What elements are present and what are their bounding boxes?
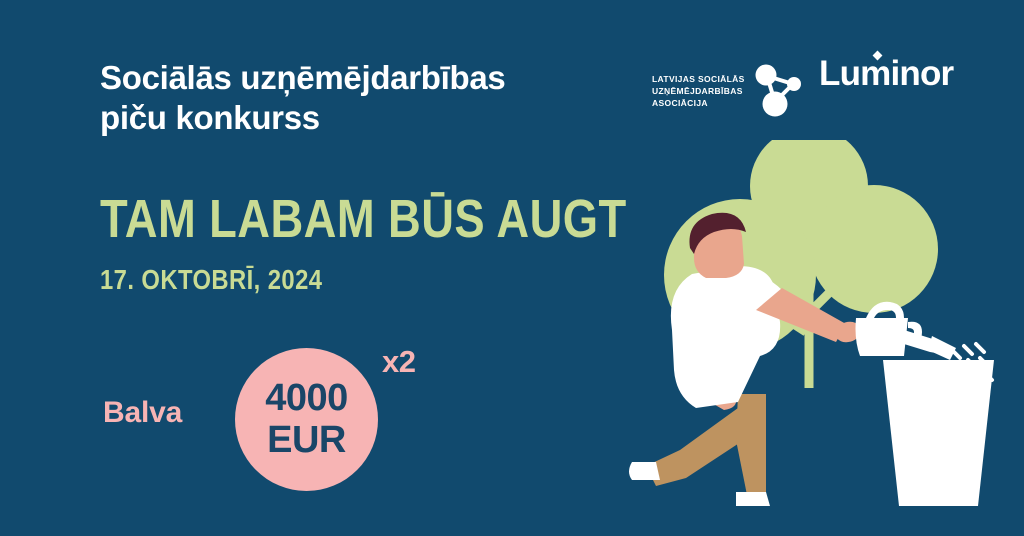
lsua-logo-text: LATVIJAS SOCIĀLĀS UZŅĒMĒJDARBĪBAS ASOCIĀ…	[652, 73, 745, 109]
event-date: 17. OKTOBRĪ, 2024	[100, 266, 322, 294]
prize-label: Balva	[103, 398, 182, 428]
watering-can	[856, 302, 957, 360]
logo-group: LATVIJAS SOCIĀLĀS UZŅĒMĒJDARBĪBAS ASOCIĀ…	[652, 52, 972, 114]
prize-amount: 4000	[265, 378, 348, 419]
prize-multiplier: x2	[382, 346, 415, 377]
prize-currency: EUR	[267, 420, 346, 461]
lsua-line-3: ASOCIĀCIJA	[652, 97, 745, 109]
luminor-logo: Luminor	[819, 56, 953, 91]
headline-line-2: piču konkurss	[100, 98, 620, 138]
prize-badge: 4000 EUR	[235, 348, 378, 491]
page-headline: Sociālās uzņēmējdarbības piču konkurss	[100, 58, 620, 139]
network-nodes-icon	[753, 62, 805, 120]
headline-line-1: Sociālās uzņēmējdarbības	[100, 59, 505, 96]
luminor-wordmark: Luminor	[819, 54, 953, 93]
lsua-line-2: UZŅĒMĒJDARBĪBAS	[652, 85, 745, 97]
illustration-person-watering-plant	[560, 140, 1024, 536]
lsua-line-1: LATVIJAS SOCIĀLĀS	[652, 73, 745, 85]
green-leaf-circle-right	[810, 185, 938, 313]
lsua-logo: LATVIJAS SOCIĀLĀS UZŅĒMĒJDARBĪBAS ASOCIĀ…	[652, 62, 805, 120]
poster-canvas: Sociālās uzņēmējdarbības piču konkurss L…	[0, 0, 1024, 536]
page-title: TAM LABAM BŪS AUGT	[100, 192, 627, 246]
